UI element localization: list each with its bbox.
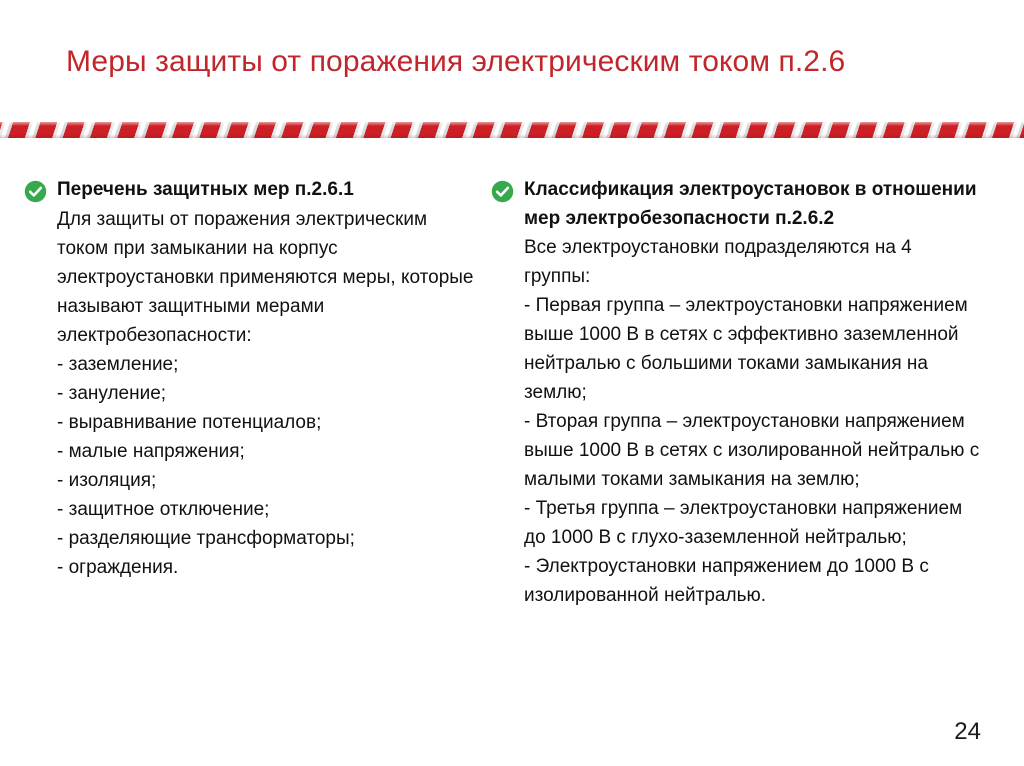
right-paragraph: Все электроустановки подразделяются на 4… bbox=[491, 233, 983, 291]
page-number: 24 bbox=[954, 718, 981, 746]
list-item: - разделяющие трансформаторы; bbox=[24, 524, 476, 553]
list-item: - изоляция; bbox=[24, 466, 476, 495]
list-item: - выравнивание потенциалов; bbox=[24, 408, 476, 437]
list-item: - ограждения. bbox=[24, 553, 476, 582]
check-circle-icon bbox=[24, 180, 47, 203]
content-column-right: Классификация электроустановок в отношен… bbox=[491, 175, 983, 610]
content-column-left: Перечень защитных мер п.2.6.1 Для защиты… bbox=[24, 175, 476, 582]
slide-page: { "slide": { "title": "Меры защиты от по… bbox=[0, 0, 1024, 766]
list-item: - зануление; bbox=[24, 379, 476, 408]
list-item: - малые напряжения; bbox=[24, 437, 476, 466]
list-item: - Третья группа – электроустановки напря… bbox=[491, 494, 983, 552]
left-paragraph: Для защиты от поражения электрическим то… bbox=[24, 205, 476, 350]
left-heading-block: Перечень защитных мер п.2.6.1 bbox=[24, 175, 476, 205]
list-item: - заземление; bbox=[24, 350, 476, 379]
slide-content: Перечень защитных мер п.2.6.1 Для защиты… bbox=[0, 175, 1024, 645]
page-title: Меры защиты от поражения электрическим т… bbox=[66, 43, 986, 81]
right-heading-text: Классификация электроустановок в отношен… bbox=[491, 175, 983, 233]
check-circle-icon bbox=[491, 180, 514, 203]
hazard-stripe-shadow bbox=[0, 134, 1024, 138]
list-item: - Первая группа – электроустановки напря… bbox=[491, 291, 983, 407]
list-item: - Вторая группа – электроустановки напря… bbox=[491, 407, 983, 494]
list-item: - Электроустановки напряжением до 1000 В… bbox=[491, 552, 983, 610]
list-item: - защитное отключение; bbox=[24, 495, 476, 524]
hazard-stripe-highlight bbox=[0, 122, 1024, 126]
hazard-stripe-divider bbox=[0, 122, 1024, 138]
right-heading-block: Классификация электроустановок в отношен… bbox=[491, 175, 983, 233]
left-heading-text: Перечень защитных мер п.2.6.1 bbox=[24, 175, 476, 204]
